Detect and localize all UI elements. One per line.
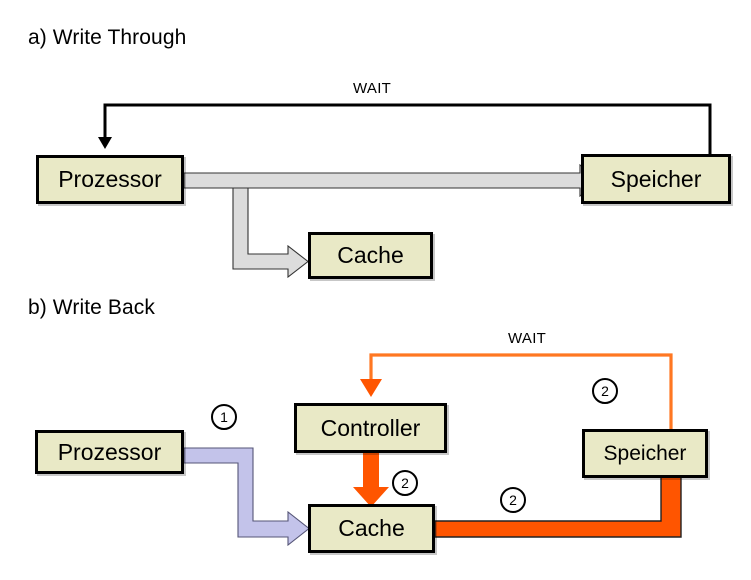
arrow-processor-to-cache-a [184,188,308,277]
section-b-title: b) Write Back [28,296,155,320]
node-memory-b[interactable]: Speicher [582,429,708,478]
wait-label-b: WAIT [508,330,546,347]
wait-line-a [105,105,710,154]
section-a-title: a) Write Through [28,26,186,50]
node-cache-a[interactable]: Cache [308,232,433,279]
node-controller-b[interactable]: Controller [294,403,447,453]
node-processor-a[interactable]: Prozessor [36,155,184,204]
step-badge-1: 1 [211,404,237,430]
step-badge-2-cache-memory: 2 [500,487,526,513]
node-memory-a[interactable]: Speicher [581,154,731,204]
arrow-processor-to-cache-b [184,448,309,545]
wait-label-a: WAIT [353,80,391,97]
node-cache-b[interactable]: Cache [308,504,435,553]
node-processor-b[interactable]: Prozessor [35,430,184,474]
step-badge-2-controller-cache: 2 [392,470,418,496]
step-badge-2-memory-wait: 2 [592,378,618,404]
arrow-controller-to-cache-b [353,453,389,507]
